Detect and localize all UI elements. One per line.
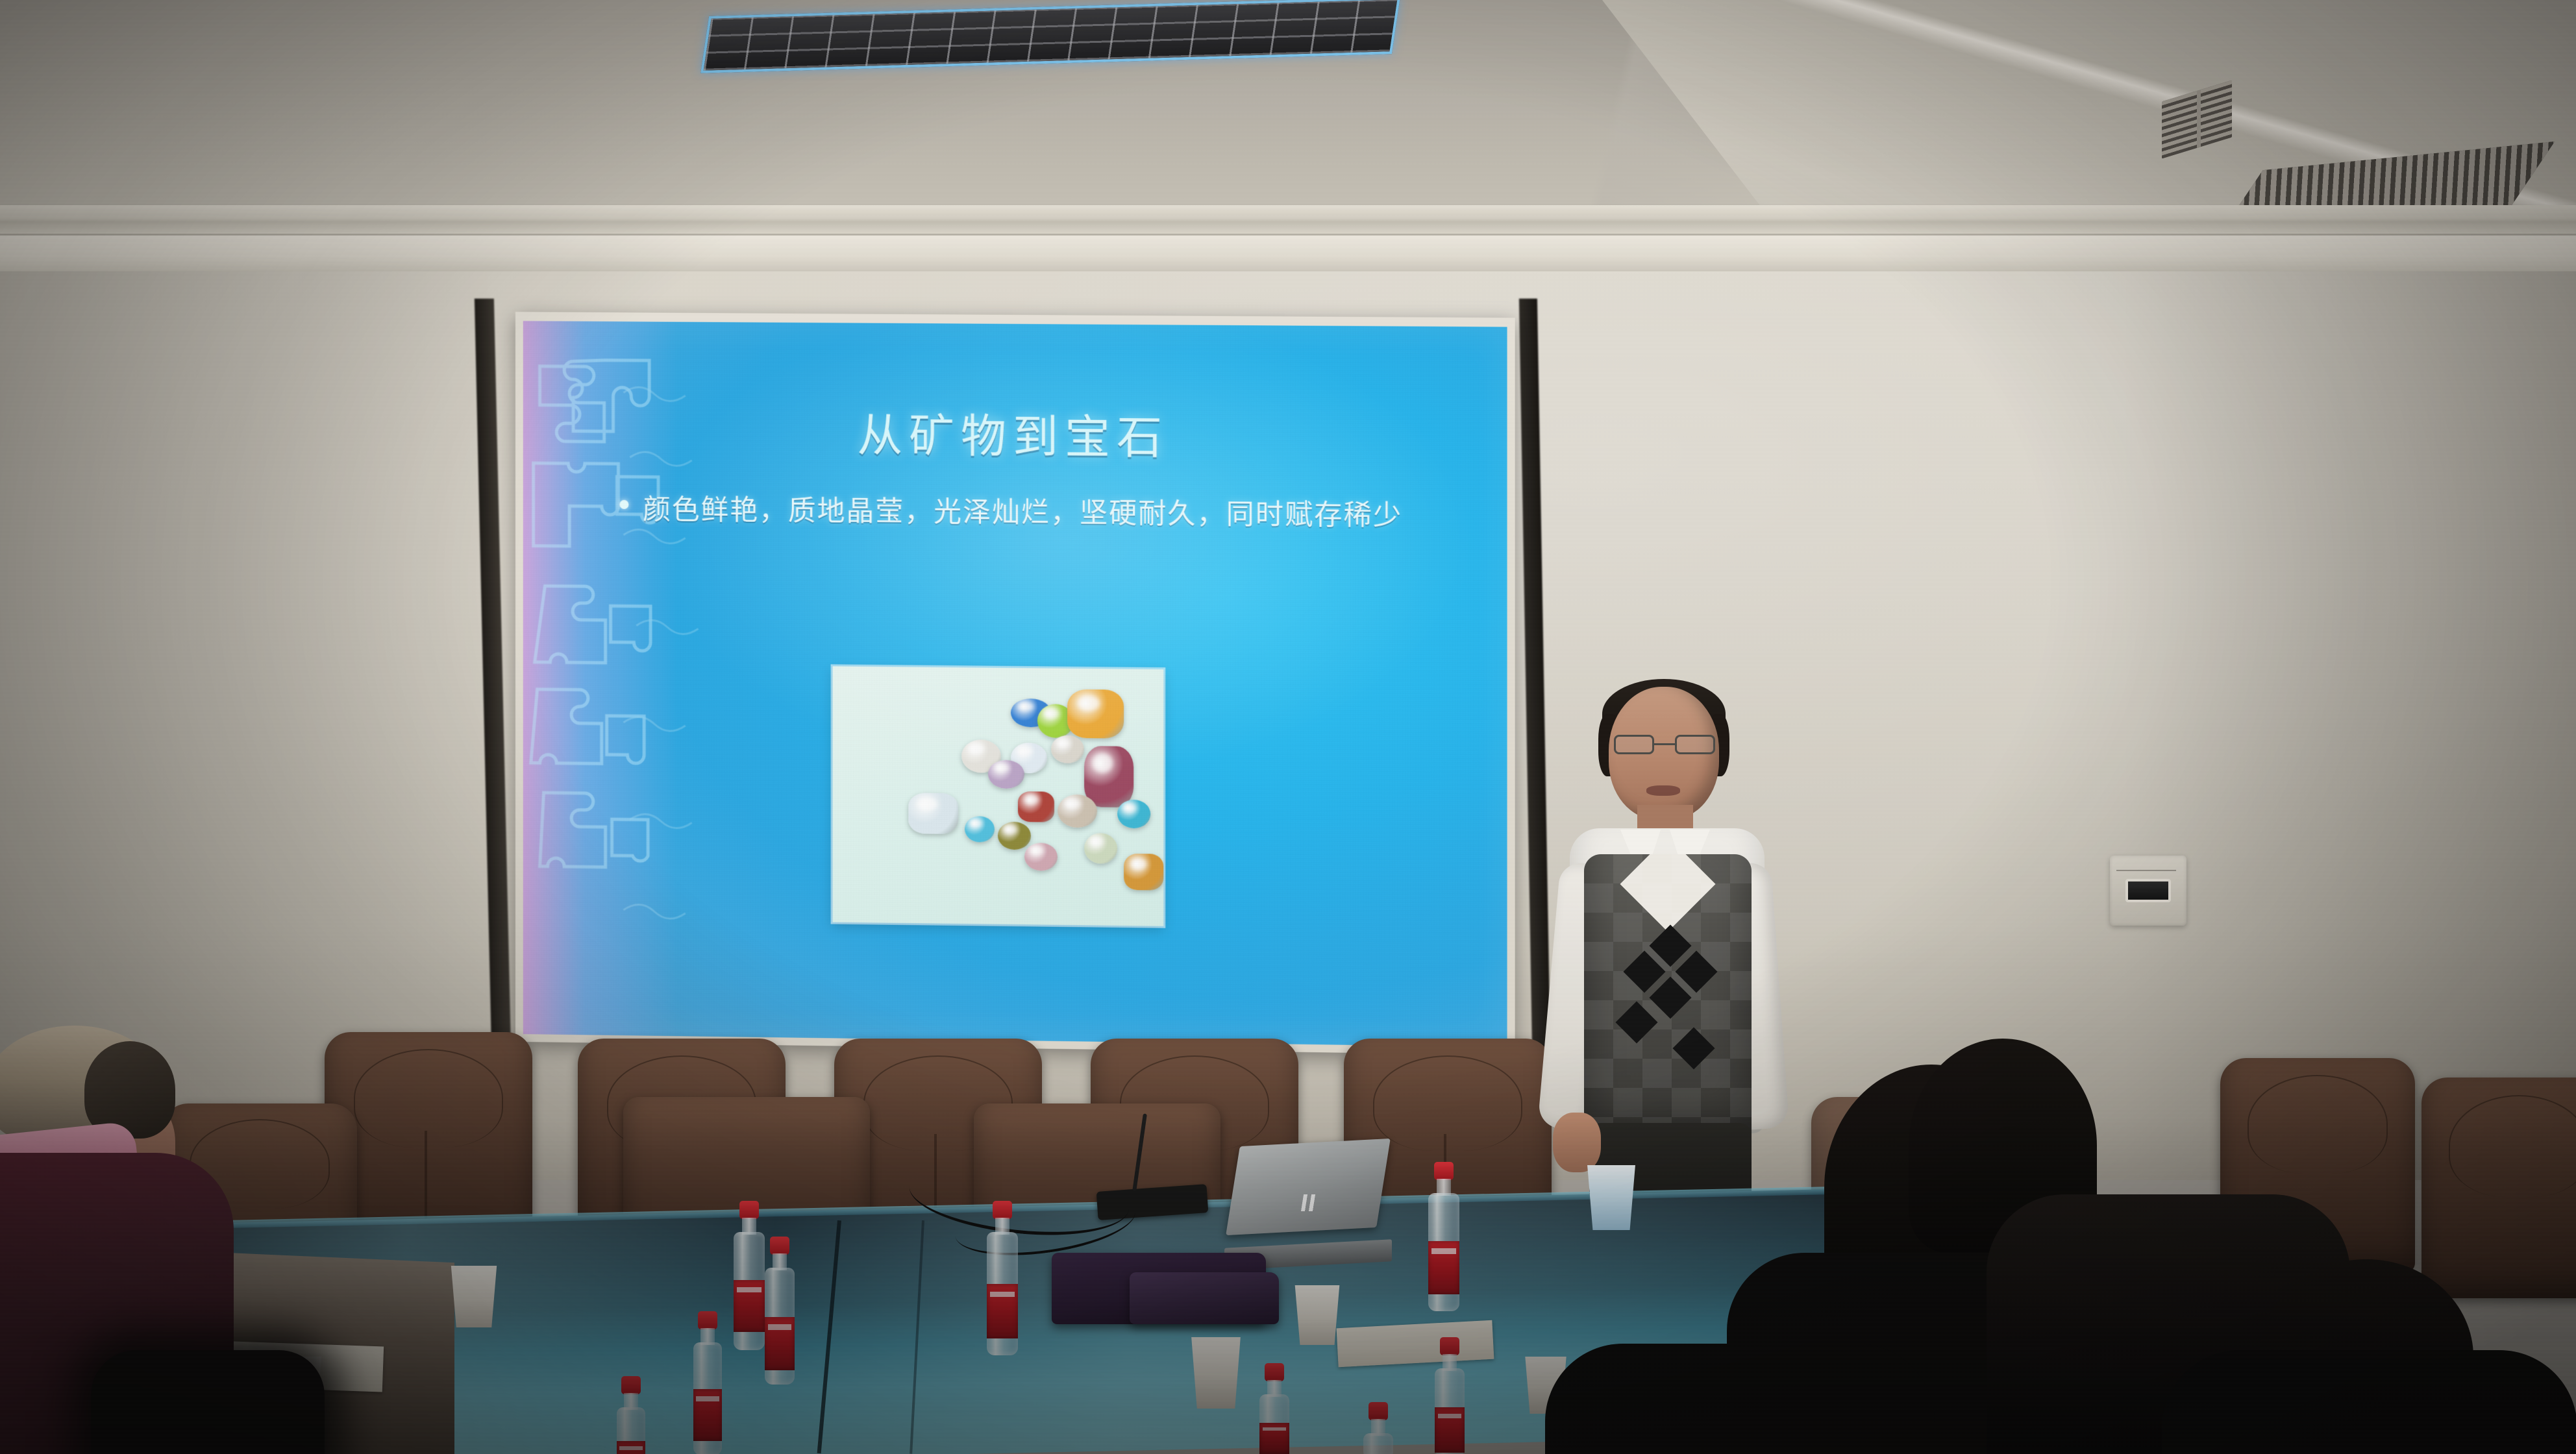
bottle-label <box>1259 1423 1289 1454</box>
gemstone-lilac-amethyst <box>988 760 1024 789</box>
wall-shadow-right <box>2122 271 2576 1180</box>
bottle-cap <box>770 1237 789 1255</box>
bottle-cap <box>1440 1337 1459 1355</box>
glasses-lens-right <box>1675 735 1715 754</box>
gemstone-photo <box>833 666 1164 926</box>
gemstone-blue-topaz <box>1117 800 1150 828</box>
water-bottle[interactable] <box>1363 1402 1393 1454</box>
bottle-label <box>1428 1241 1459 1294</box>
laptop-lid <box>1226 1139 1391 1235</box>
chair-seam <box>2248 1075 2388 1174</box>
bottle-cap <box>1265 1363 1284 1381</box>
handbag-secondary[interactable] <box>1130 1272 1279 1324</box>
laptop[interactable] <box>1233 1142 1383 1266</box>
presenter-mouth <box>1646 785 1680 796</box>
bottle-cap <box>621 1376 641 1394</box>
presenter-hand <box>1553 1113 1601 1172</box>
wall-socket-plate[interactable] <box>2110 856 2186 926</box>
front-right-attendee-3-shoulders <box>2162 1350 2576 1454</box>
bottle-cap <box>739 1201 759 1219</box>
gemstone-clear-round-large <box>908 793 958 834</box>
gemstone-pale-green-gem <box>1084 833 1117 864</box>
socket-port-icon <box>2125 879 2171 902</box>
projected-slide: 从矿物到宝石 颜色鲜艳，质地晶莹，光泽灿烂，坚硬耐久，同时赋存稀少 <box>523 321 1507 1047</box>
bottle-cap <box>993 1201 1012 1219</box>
projection-screen: 从矿物到宝石 颜色鲜艳，质地晶莹，光泽灿烂，坚硬耐久，同时赋存稀少 <box>515 312 1515 1055</box>
glasses-icon <box>1614 735 1715 754</box>
presenter-sweater-vest <box>1584 854 1752 1148</box>
paper-cup[interactable] <box>1188 1337 1244 1409</box>
gemstone-aquamarine <box>965 816 995 842</box>
water-bottle[interactable] <box>617 1376 645 1454</box>
crown-molding-upper <box>0 205 2576 235</box>
laptop-logo-icon <box>1301 1194 1318 1211</box>
bottle-label <box>1435 1407 1465 1453</box>
paper-cup[interactable] <box>448 1266 500 1327</box>
chair-seam <box>2449 1095 2576 1196</box>
bottle-body <box>1363 1433 1393 1454</box>
bottle-label <box>734 1280 765 1332</box>
bottle-cap <box>1434 1162 1454 1180</box>
paper-cup[interactable] <box>1292 1285 1343 1345</box>
gemstone-smoky-topaz <box>1058 794 1097 828</box>
bottle-cap <box>698 1311 717 1329</box>
crown-molding-line <box>0 234 2576 236</box>
foreground-shadow-mass <box>1545 1344 1935 1454</box>
bottle-label <box>693 1389 722 1441</box>
slide-bullet-text: 颜色鲜艳，质地晶莹，光泽灿烂，坚硬耐久，同时赋存稀少 <box>643 491 1448 536</box>
chair-seam <box>354 1049 503 1148</box>
socket-plate-seam <box>2116 870 2176 871</box>
front-left-attendee-shoulder <box>91 1350 325 1454</box>
water-bottle[interactable] <box>1435 1337 1465 1454</box>
gemstone-ruby-rod <box>1084 746 1134 808</box>
gemstone-olive-peridot <box>998 822 1031 850</box>
presenter <box>1493 675 1831 1233</box>
water-bottle[interactable] <box>1259 1363 1289 1454</box>
document-paper[interactable] <box>1337 1320 1494 1367</box>
bottle-label <box>987 1284 1018 1338</box>
crown-molding-lower <box>0 235 2576 271</box>
water-bottle[interactable] <box>693 1311 722 1454</box>
water-bottle[interactable] <box>1428 1162 1459 1311</box>
water-bottle[interactable] <box>734 1201 765 1350</box>
gemstone-yellow-citrine-large <box>1067 689 1124 738</box>
bottle-label <box>765 1317 795 1370</box>
slide-bullet-marker-icon <box>619 500 628 509</box>
gemstone-pale-crystal <box>1051 735 1084 763</box>
gemstone-amber-cabochon <box>1124 854 1163 890</box>
water-bottle[interactable] <box>987 1201 1018 1357</box>
glasses-lens-left <box>1614 735 1654 754</box>
bottle-cap <box>1368 1402 1388 1420</box>
glasses-bridge <box>1654 743 1675 745</box>
bottle-label <box>617 1441 645 1454</box>
gemstone-pink-morganite <box>1024 843 1058 871</box>
slide-title: 从矿物到宝石 <box>523 397 1507 470</box>
vent-divider <box>2197 90 2201 148</box>
chair[interactable] <box>2421 1078 2576 1298</box>
gemstone-red-garnet-oval <box>1018 791 1054 822</box>
conference-room-photo: 从矿物到宝石 颜色鲜艳，质地晶莹，光泽灿烂，坚硬耐久，同时赋存稀少 <box>0 0 2576 1454</box>
water-bottle[interactable] <box>765 1237 795 1385</box>
paper-cup[interactable] <box>1584 1165 1639 1230</box>
